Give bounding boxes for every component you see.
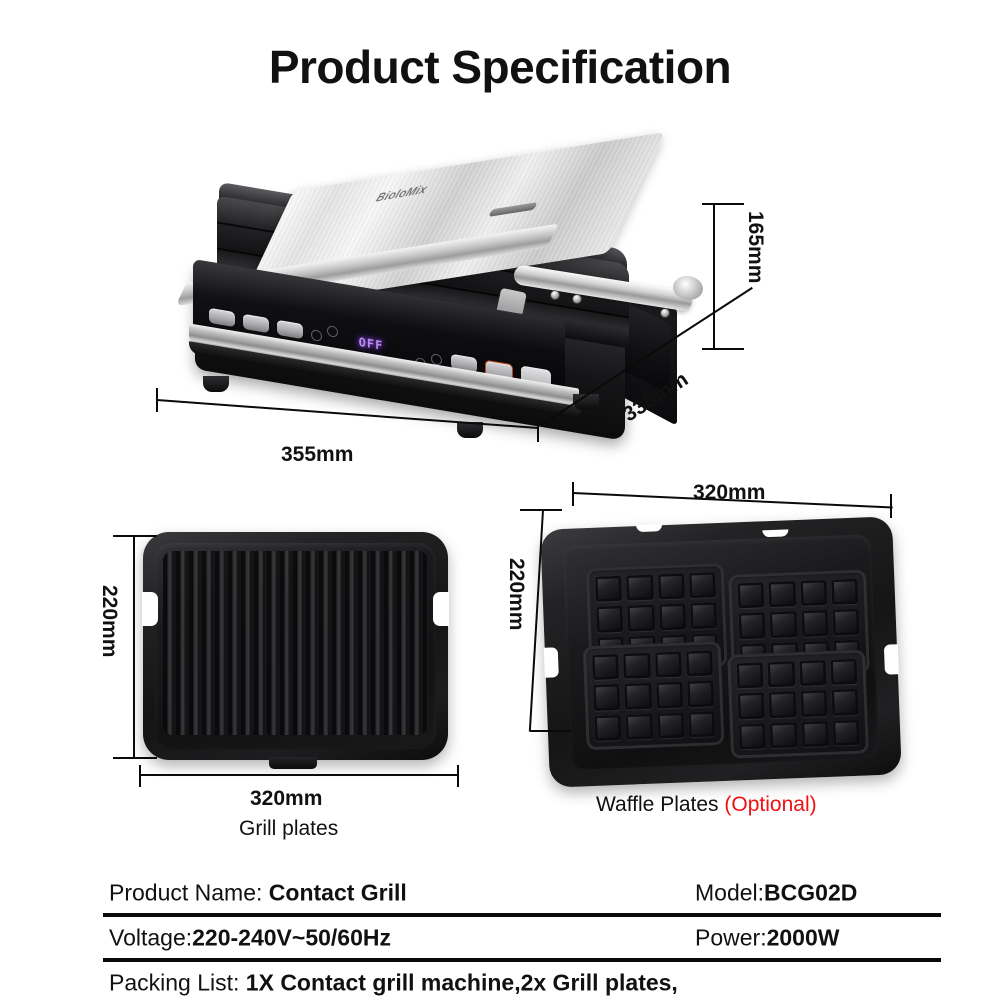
dim-tick-gp320-left [139, 765, 141, 787]
spec-power-value: 2000W [767, 924, 840, 950]
spec-voltage-value: 220-240V~50/60Hz [192, 924, 391, 950]
spec-packing-list-value: 1X Contact grill machine,2x Grill plates… [246, 969, 678, 995]
dim-tick-wp220-bottom [530, 730, 572, 732]
waffle-plate-notch-left [544, 647, 559, 678]
grill-plate-tab [269, 757, 317, 769]
spec-model-label: Model: [695, 879, 764, 905]
dim-line-wp220 [529, 510, 544, 732]
spec-packing-list-label: Packing List: [109, 969, 246, 995]
grill-plate-notch-left [142, 592, 158, 626]
waffle-quadrant-br [727, 649, 869, 758]
dim-label-width: 355mm [281, 443, 353, 467]
grill-plate-ridges [163, 551, 428, 735]
dim-label-height: 165mm [743, 211, 767, 283]
grill-plate-notch-right [433, 592, 449, 626]
dim-label-grill-plate-height: 220mm [97, 585, 121, 657]
waffle-quadrant-bl [583, 641, 725, 750]
spec-product-name-value: Contact Grill [269, 879, 407, 905]
spec-product-name-label: Product Name: [109, 879, 269, 905]
dim-tick-gp220-top [113, 535, 157, 537]
waffle-plate-notch-right [884, 644, 899, 675]
grill-plate-surface [155, 543, 436, 749]
spec-product-name: Product Name: Contact Grill [109, 879, 407, 906]
spec-power-label: Power: [695, 924, 767, 950]
spec-row-product: Product Name: Contact Grill Model:BCG02D [103, 872, 941, 913]
spec-model-value: BCG02D [764, 879, 857, 905]
waffle-plate-nick-left [636, 524, 662, 532]
dim-tick-gp220-bottom [113, 757, 157, 759]
spec-power: Power:2000W [695, 924, 839, 951]
product-spec-page: Product Specification BioloMix [0, 0, 1000, 1000]
dim-tick-gp320-right [457, 765, 459, 787]
dim-line-gp320 [140, 774, 458, 776]
dim-label-waffle-plate-width: 320mm [693, 481, 765, 505]
specification-table: Product Name: Contact Grill Model:BCG02D… [103, 872, 941, 1003]
waffle-plate-body [540, 516, 902, 787]
waffle-plate-optional-note: (Optional) [724, 793, 816, 816]
dim-tick-wp320-right [890, 494, 892, 518]
spec-row-packing: Packing List: 1X Contact grill machine,2… [103, 962, 941, 1003]
grill-plate-caption: Grill plates [239, 817, 338, 841]
dim-line-gp220 [133, 536, 135, 758]
waffle-plate-caption-text: Waffle Plates [596, 793, 719, 816]
foot [203, 376, 229, 392]
spec-voltage-label: Voltage: [109, 924, 192, 950]
dim-label-grill-plate-width: 320mm [250, 787, 322, 811]
waffle-plate-caption: Waffle Plates (Optional) [596, 793, 817, 817]
spec-packing-list: Packing List: 1X Contact grill machine,2… [109, 969, 678, 996]
dim-label-waffle-plate-height: 220mm [504, 558, 528, 630]
dim-tick-165-top [702, 203, 744, 205]
waffle-plate-image [540, 516, 902, 787]
dim-tick-165-bottom [702, 348, 744, 350]
page-title: Product Specification [0, 40, 1000, 94]
dim-line-165 [713, 204, 715, 349]
grill-plate-image [143, 532, 448, 760]
spec-row-voltage: Voltage:220-240V~50/60Hz Power:2000W [103, 917, 941, 958]
waffle-plate-nick-right [762, 529, 788, 537]
spec-model: Model:BCG02D [695, 879, 857, 906]
dim-tick-355-right [537, 418, 539, 442]
spec-voltage: Voltage:220-240V~50/60Hz [109, 924, 391, 951]
